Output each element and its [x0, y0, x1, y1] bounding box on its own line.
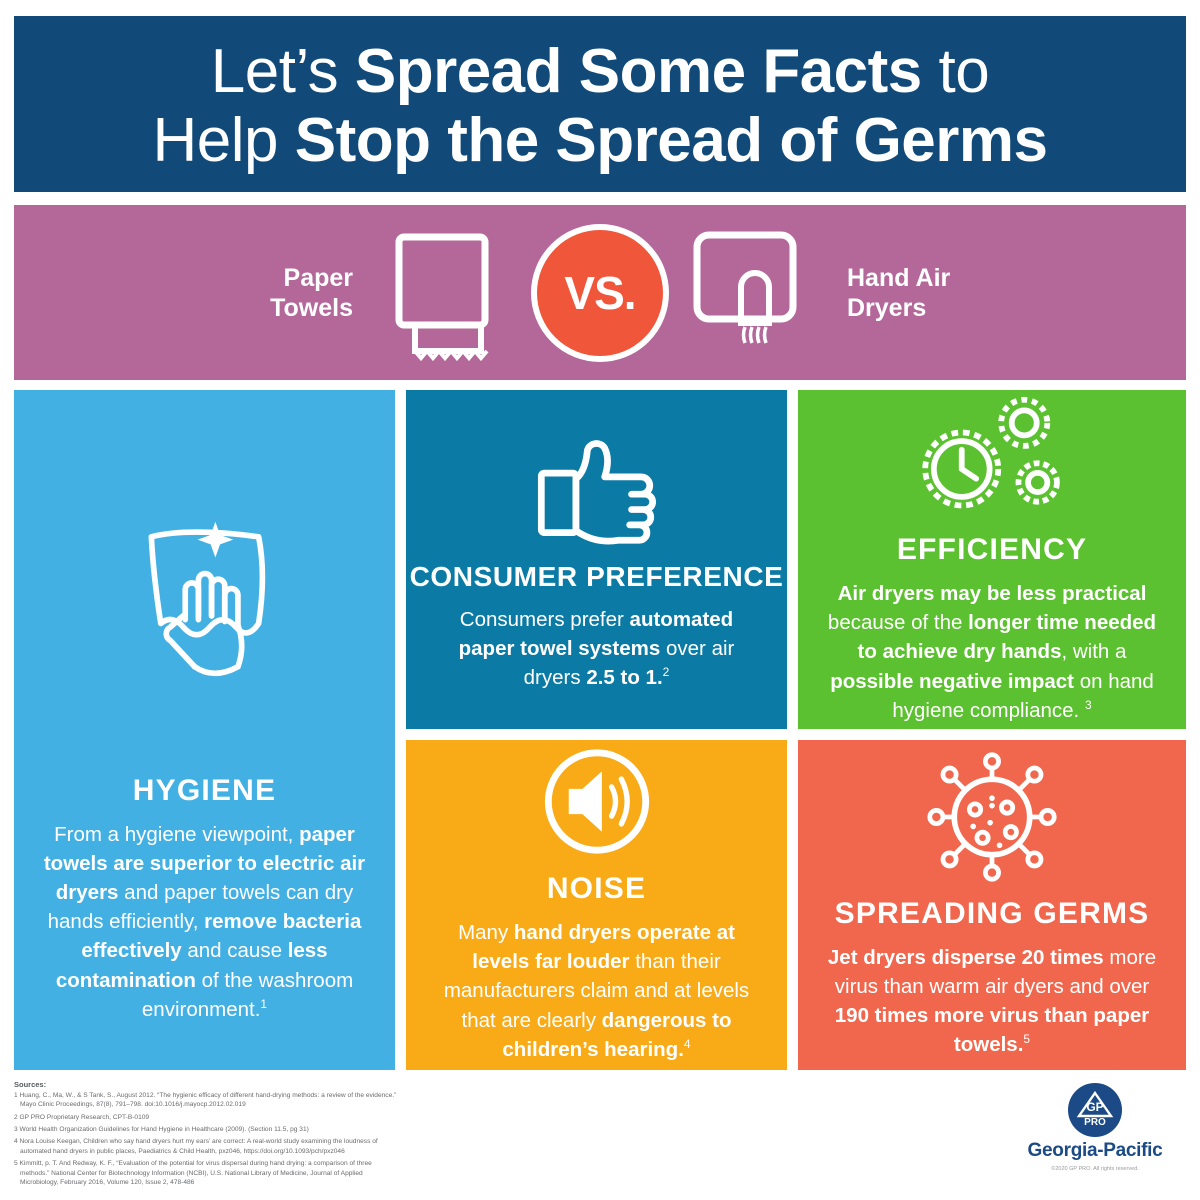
- panel-body-spreading-germs: Jet dryers disperse 20 times more virus …: [824, 943, 1160, 1059]
- gears-with-clock-icon: [900, 394, 1085, 519]
- source-item: 1 Huang, C., Ma, W., & S Tank, S., Augus…: [14, 1091, 634, 1110]
- source-item: 4 Nora Louise Keegan, Children who say h…: [14, 1137, 634, 1156]
- panel-body-consumer-preference: Consumers prefer automated paper towel s…: [432, 605, 761, 692]
- gp-pro-logo-mark: GP PRO: [1067, 1082, 1123, 1138]
- panel-body-hygiene: From a hygiene viewpoint, paper towels a…: [40, 820, 369, 1024]
- hand-with-towel-sparkle-icon: [125, 508, 285, 688]
- header-line1-plain-a: Let’s: [211, 37, 355, 106]
- header-line2-bold: Stop the Spread of Germs: [295, 106, 1048, 175]
- panel-title-hygiene: HYGIENE: [133, 774, 276, 808]
- speaker-volume-icon: [533, 746, 661, 858]
- legal-line: ©2020 GP PRO. All rights reserved.: [1051, 1166, 1138, 1172]
- hand-air-dryer-icon: [679, 223, 829, 363]
- header-line2-plain-a: Help: [152, 106, 294, 175]
- source-item: 2 GP PRO Proprietary Research, CPT-B-010…: [14, 1113, 634, 1122]
- versus-circle-badge: VS.: [531, 224, 669, 362]
- thumbs-up-icon: [527, 427, 667, 547]
- panel-consumer-preference: CONSUMER PREFERENCE Consumers prefer aut…: [406, 390, 787, 729]
- infographic-page: Let’s Spread Some Facts to Help Stop the…: [0, 0, 1200, 1200]
- panel-spreading-germs: SPREADING GERMS Jet dryers disperse 20 t…: [798, 740, 1186, 1070]
- header-line1-bold: Spread Some Facts: [355, 37, 922, 106]
- brand-name: Georgia-Pacific: [1028, 1140, 1163, 1162]
- panel-title-spreading-germs: SPREADING GERMS: [835, 897, 1150, 931]
- versus-right-side: Hand AirDryers: [679, 223, 997, 363]
- header-line1-plain-b: to: [922, 37, 989, 106]
- versus-left-side: PaperTowels: [203, 223, 521, 363]
- header-title-line-2: Help Stop the Spread of Germs: [152, 106, 1047, 175]
- header-banner: Let’s Spread Some Facts to Help Stop the…: [14, 16, 1186, 192]
- panel-title-efficiency: EFFICIENCY: [897, 533, 1087, 567]
- panel-body-noise: Many hand dryers operate at levels far l…: [432, 918, 761, 1064]
- svg-text:PRO: PRO: [1084, 1117, 1106, 1128]
- header-title-line-1: Let’s Spread Some Facts to: [211, 37, 989, 106]
- panel-title-consumer-preference: CONSUMER PREFERENCE: [410, 561, 784, 593]
- panel-noise: NOISE Many hand dryers operate at levels…: [406, 740, 787, 1070]
- panel-title-noise: NOISE: [547, 872, 646, 906]
- svg-text:GP: GP: [1086, 1100, 1103, 1114]
- facts-grid: HYGIENE From a hygiene viewpoint, paper …: [14, 390, 1186, 1070]
- paper-towel-roll-icon: [371, 223, 521, 363]
- panel-body-efficiency: Air dryers may be less practical because…: [824, 579, 1160, 725]
- hand-air-dryers-label: Hand AirDryers: [847, 263, 997, 323]
- panel-efficiency: EFFICIENCY Air dryers may be less practi…: [798, 390, 1186, 729]
- versus-banner: PaperTowels VS.: [14, 205, 1186, 380]
- paper-towels-label: PaperTowels: [203, 263, 353, 323]
- georgia-pacific-logo: GP PRO Georgia-Pacific ©2020 GP PRO. All…: [1010, 1082, 1180, 1172]
- virus-icon: [926, 751, 1058, 883]
- panel-hygiene: HYGIENE From a hygiene viewpoint, paper …: [14, 390, 395, 1070]
- source-item: 5 Kimmitt, p. T. And Redway, K. F., “Eva…: [14, 1159, 634, 1187]
- source-item: 3 World Health Organization Guidelines f…: [14, 1125, 634, 1134]
- footer: Sources: 1 Huang, C., Ma, W., & S Tank, …: [14, 1080, 1186, 1192]
